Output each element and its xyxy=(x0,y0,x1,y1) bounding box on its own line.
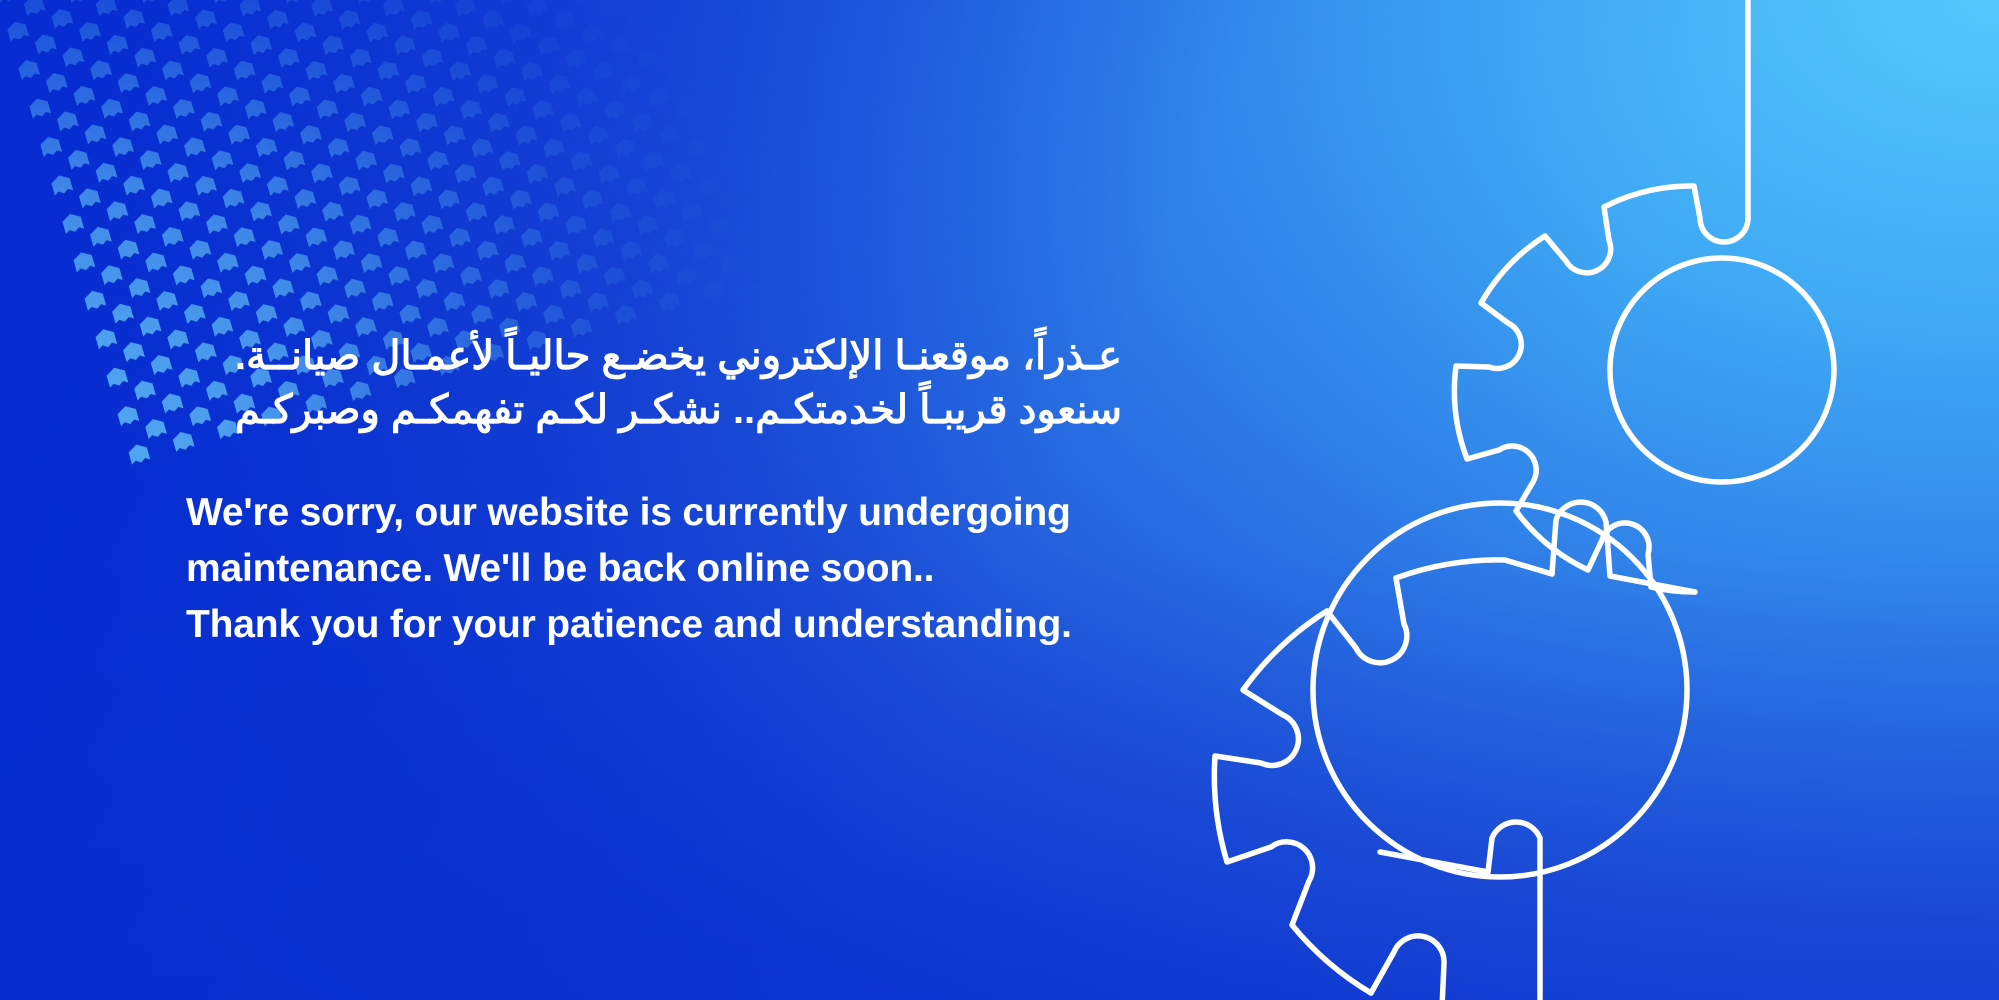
english-message-line-2: maintenance. We'll be back online soon.. xyxy=(186,541,1186,597)
maintenance-page: عـذراً، موقعنـا الإلكتروني يخضـع حاليـاً… xyxy=(0,0,1999,1000)
arabic-message-line-1: عـذراً، موقعنـا الإلكتروني يخضـع حاليـاً… xyxy=(186,330,1122,384)
english-message-line-1: We're sorry, our website is currently un… xyxy=(186,485,1186,541)
message-block: عـذراً، موقعنـا الإلكتروني يخضـع حاليـاً… xyxy=(186,330,1186,652)
english-message-line-3: Thank you for your patience and understa… xyxy=(186,597,1186,653)
english-message: We're sorry, our website is currently un… xyxy=(186,485,1186,652)
arabic-message-line-2: سنعود قريبـاً لخدمتكـم.. نشكـر لكـم تفهم… xyxy=(186,384,1122,438)
